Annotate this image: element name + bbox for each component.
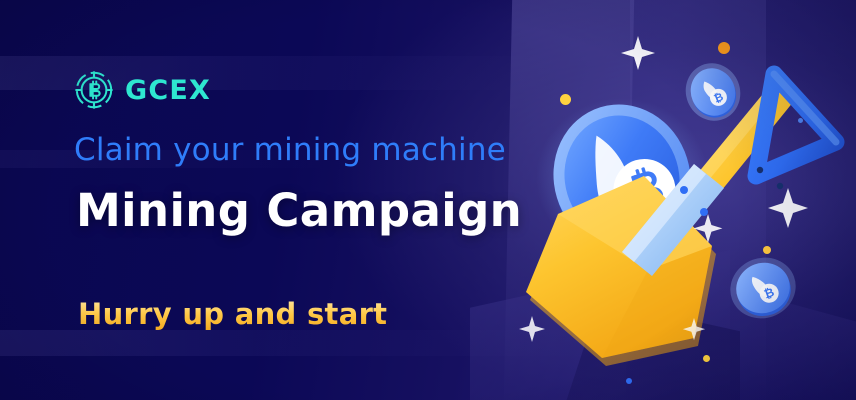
promo-banner: GCEX Claim your mining machine Mining Ca… xyxy=(0,0,856,400)
vignette-overlay xyxy=(0,0,856,400)
